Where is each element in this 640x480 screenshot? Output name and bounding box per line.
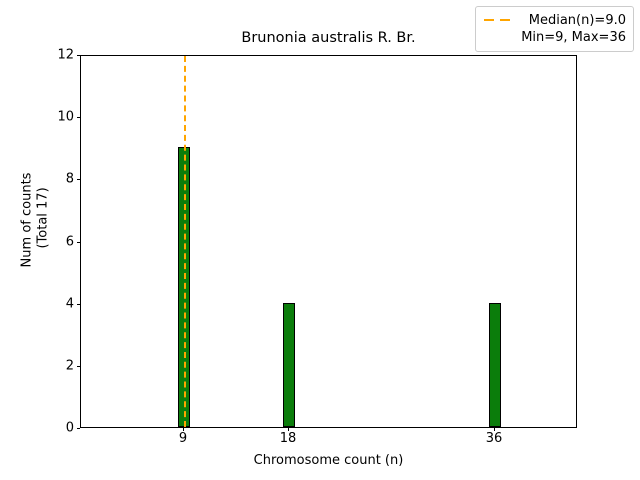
y-tick-label-8: 8 [38, 173, 74, 186]
plot-inner [81, 56, 576, 427]
legend-labels: Median(n)=9.0 Min=9, Max=36 [521, 12, 626, 46]
plot-area [80, 55, 577, 428]
legend-entry-median: Median(n)=9.0 [521, 12, 626, 29]
legend[interactable]: Median(n)=9.0 Min=9, Max=36 [475, 6, 634, 52]
y-axis-tick-labels: 0 2 4 6 8 10 12 [32, 55, 74, 428]
bar-36[interactable] [489, 303, 501, 427]
legend-entry-minmax: Min=9, Max=36 [521, 29, 626, 46]
x-tick-label-9: 9 [153, 432, 213, 446]
median-line [184, 56, 186, 427]
x-tick-label-36: 36 [464, 432, 524, 446]
x-axis-tick-labels: 9 18 36 [80, 432, 577, 452]
x-tick-label-18: 18 [258, 432, 318, 446]
legend-dashed-line-icon [483, 12, 513, 28]
y-tick-label-12: 12 [38, 49, 74, 62]
y-tick-label-2: 2 [38, 359, 74, 372]
bar-18[interactable] [283, 303, 295, 427]
figure: Brunonia australis R. Br. Num of counts … [0, 0, 640, 480]
y-tick-label-4: 4 [38, 297, 74, 310]
x-axis-label: Chromosome count (n) [80, 453, 577, 468]
y-tick-mark-0 [77, 428, 81, 429]
y-tick-label-0: 0 [38, 422, 74, 435]
y-tick-label-6: 6 [38, 235, 74, 248]
y-tick-label-10: 10 [38, 111, 74, 124]
